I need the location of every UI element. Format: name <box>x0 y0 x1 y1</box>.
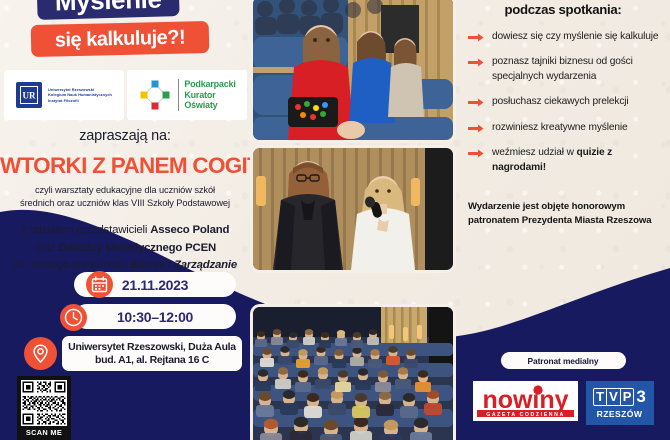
event-subtitle: czyli warsztaty edukacyjne dla uczniów s… <box>0 184 250 211</box>
headline-line-1: Myślenie <box>54 0 161 19</box>
kurator-diamond-icon <box>138 78 172 112</box>
tvp-logo: T V P 3 RZESZÓW <box>586 381 654 425</box>
event-date-row: 21.11.2023 <box>0 272 250 299</box>
participants-block: z udziałem przedstawicieli Asseco Poland… <box>0 222 250 275</box>
location-pin-glyph <box>30 343 51 364</box>
event-date-value: 21.11.2023 <box>122 277 188 293</box>
event-time-pill: 10:30–12:00 <box>74 304 236 329</box>
event-place-line-2: bud. A1, al. Rejtana 16 C <box>95 354 209 366</box>
participants-line-1-plain: z udziałem przedstawicieli <box>21 224 150 236</box>
left-column: Myślenie się kalkuluje?! UR Uniwersytet … <box>0 0 250 440</box>
photo-column <box>253 0 453 440</box>
patronage-line-1: Wydarzenie jest objęte honorowym <box>468 200 668 214</box>
invitation-block: zapraszają na: WTORKI Z PANEM COGITO czy… <box>0 128 250 275</box>
event-place-row: Uniwersytet Rzeszowski, Duża Aula bud. A… <box>0 336 250 372</box>
clock-glyph <box>64 308 83 327</box>
participants-line-1: z udziałem przedstawicieli Asseco Poland <box>0 222 250 240</box>
agenda-item-label: dowiesz się czy myślenie się kalkuluje <box>492 30 658 44</box>
qr-code-label: SCAN ME <box>21 426 67 438</box>
participants-line-1-bold: Asseco Poland <box>150 224 229 236</box>
photo-1-illustration <box>253 0 453 140</box>
event-subtitle-line-2: średnich oraz uczniów klas VIII Szkoły P… <box>0 197 250 210</box>
photo-two-students-with-microphone <box>253 148 453 270</box>
tvp-city-label: RZESZÓW <box>597 409 643 419</box>
university-name-line-3: Instytut Filozofii <box>48 98 112 104</box>
clock-icon <box>60 304 87 331</box>
poster-root: Myślenie się kalkuluje?! UR Uniwersytet … <box>0 0 670 440</box>
university-logo-text: Uniwersytet Rzeszowski Kolegium Nauk Hum… <box>48 87 112 104</box>
agenda-item-text: posłuchasz ciekawych prelekcji <box>492 96 629 107</box>
agenda-item-text: poznasz tajniki biznesu od gości specjal… <box>492 56 633 81</box>
kurator-line-3: Oświaty <box>184 100 235 111</box>
agenda-item-label: posłuchasz ciekawych prelekcji <box>492 95 629 109</box>
agenda-item-label: weźmiesz udział w quizie z nagrodami! <box>492 146 668 175</box>
nowiny-wordmark: nowiny <box>482 386 568 414</box>
agenda-item-label: rozwiniesz kreatywne myślenie <box>492 121 628 135</box>
ur-monogram-icon: UR <box>20 86 38 104</box>
event-subtitle-line-1: czyli warsztaty edukacyjne dla uczniów s… <box>0 184 250 197</box>
honorary-patronage-note: Wydarzenie jest objęte honorowym patrona… <box>468 200 668 229</box>
photo-3-illustration <box>253 307 453 440</box>
agenda-item: posłuchasz ciekawych prelekcji <box>468 95 668 109</box>
arrow-right-icon <box>468 124 484 133</box>
event-details: 21.11.2023 <box>0 272 250 377</box>
agenda-item: weźmiesz udział w quizie z nagrodami! <box>468 146 668 175</box>
nowiny-logo: nowiny GAZETA CODZIENNA <box>473 381 578 421</box>
qr-code-box[interactable]: SCAN ME <box>17 376 71 440</box>
media-patron-logos: nowiny GAZETA CODZIENNA T V P 3 <box>456 381 670 425</box>
agenda-item-text: weźmiesz udział w <box>492 147 577 158</box>
agenda-item: poznasz tajniki biznesu od gości specjal… <box>468 55 668 84</box>
university-crest-icon: UR <box>16 82 42 108</box>
headline-banner-secondary: się kalkuluje?! <box>31 21 210 57</box>
headline-line-2: się kalkuluje?! <box>55 26 186 52</box>
event-place-pill: Uniwersytet Rzeszowski, Duża Aula bud. A… <box>62 336 242 371</box>
headline-banner-primary: Myślenie <box>36 0 179 20</box>
university-name-line-2: Kolegium Nauk Humanistycznych <box>48 92 112 98</box>
arrow-right-icon <box>468 58 484 67</box>
agenda-heading: podczas spotkania: <box>456 2 670 17</box>
media-patron-block: Patronat medialny nowiny GAZETA CODZIENN… <box>456 352 670 425</box>
arrow-right-icon <box>468 98 484 107</box>
tvp-logo-row: T V P 3 <box>593 388 646 406</box>
right-column: podczas spotkania: dowiesz się czy myśle… <box>456 0 670 440</box>
media-patron-label: Patronat medialny <box>528 356 599 366</box>
agenda-item-text: rozwiniesz kreatywne myślenie <box>492 122 628 133</box>
tvp-channel-number: 3 <box>636 388 645 405</box>
nowiny-tagline: GAZETA CODZIENNA <box>486 412 565 418</box>
invitation-lead: zapraszają na: <box>0 128 250 144</box>
kurator-logo-text: Podkarpacki Kurator Oświaty <box>178 79 235 111</box>
participants-line-2-bold: Doradcy Metodycznego PCEN <box>58 242 216 254</box>
event-time-value: 10:30–12:00 <box>117 309 193 325</box>
participants-line-3-plain: ds. nowego przedmiotu <box>13 259 130 271</box>
arrow-right-icon <box>468 33 484 42</box>
agenda-list: dowiesz się czy myślenie się kalkuluje p… <box>468 30 668 186</box>
agenda-item-label: poznasz tajniki biznesu od gości specjal… <box>492 55 668 84</box>
media-patron-pill: Patronat medialny <box>501 352 626 369</box>
nowiny-logo-icon: nowiny GAZETA CODZIENNA <box>475 383 576 419</box>
event-time-row: 10:30–12:00 <box>0 304 250 331</box>
event-title: WTORKI Z PANEM COGITO <box>0 153 250 179</box>
kurator-line-1: Podkarpacki <box>184 79 235 90</box>
calendar-glyph <box>91 276 108 293</box>
participants-line-2: oraz Doradcy Metodycznego PCEN <box>0 240 250 258</box>
participants-line-2-plain: oraz <box>34 242 58 254</box>
svg-text:UR: UR <box>23 91 36 101</box>
tvp-letter: P <box>621 389 634 405</box>
calendar-icon <box>86 271 113 298</box>
tvp-letter: V <box>607 389 621 405</box>
university-logo-card: UR Uniwersytet Rzeszowski Kolegium Nauk … <box>4 70 124 120</box>
qr-code-icon[interactable] <box>21 380 67 426</box>
agenda-item: dowiesz się czy myślenie się kalkuluje <box>468 30 668 44</box>
event-place-line-1: Uniwersytet Rzeszowski, Duża Aula <box>68 341 236 353</box>
tvp-letters-icon: T V P <box>593 388 634 406</box>
agenda-item-text: dowiesz się czy myślenie się kalkuluje <box>492 31 658 42</box>
photo-2-illustration <box>253 148 453 270</box>
organizer-logo-strip: UR Uniwersytet Rzeszowski Kolegium Nauk … <box>4 70 247 120</box>
photo-full-auditorium-audience <box>253 307 453 440</box>
kurator-line-2: Kurator <box>184 90 235 101</box>
tvp-letter: T <box>594 389 607 405</box>
agenda-item: rozwiniesz kreatywne myślenie <box>468 121 668 135</box>
photo-students-seated-auditorium <box>253 0 453 140</box>
participants-line-3-italic: Biznes i Zarządzanie <box>130 259 237 271</box>
location-pin-icon <box>24 337 57 370</box>
patronage-line-2: patronatem Prezydenta Miasta Rzeszowa <box>468 214 668 228</box>
kurator-logo-card: Podkarpacki Kurator Oświaty <box>127 70 247 120</box>
arrow-right-icon <box>468 149 484 158</box>
